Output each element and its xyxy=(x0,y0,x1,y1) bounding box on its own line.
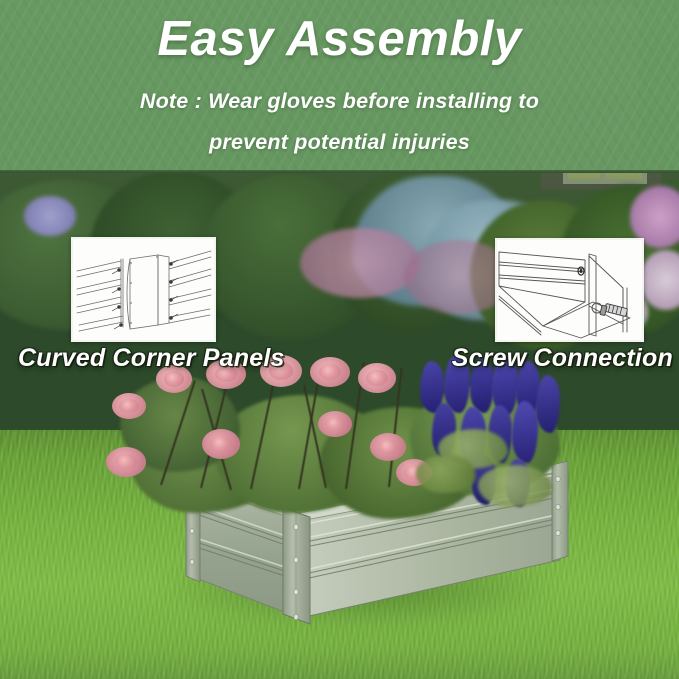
caption-curved-corner-panels: Curved Corner Panels xyxy=(18,344,285,373)
caption-screw-connection: Screw Connection xyxy=(452,344,673,373)
rose-bloom xyxy=(106,447,146,477)
plant-mass xyxy=(120,355,560,525)
corner-panel-linework xyxy=(73,239,214,340)
salvia-spike xyxy=(536,375,560,433)
foliage-clump xyxy=(478,465,552,507)
product-marketing-image: Curved Corner Panels Screw Connection Ea… xyxy=(0,0,679,679)
screw-connection-linework xyxy=(497,240,642,340)
salvia-spike xyxy=(512,401,538,463)
rose-bloom xyxy=(370,433,406,461)
rose-bloom xyxy=(310,357,350,387)
note-line-1: Note : Wear gloves before installing to xyxy=(0,89,679,114)
screw-hole xyxy=(580,269,583,273)
screw-marker xyxy=(170,260,178,319)
rose-bloom xyxy=(358,363,396,393)
note-line-2: prevent potential injuries xyxy=(0,130,679,155)
screw-hole xyxy=(130,256,158,324)
curved-corner-panels-diagram xyxy=(71,237,216,342)
rose-bloom xyxy=(112,393,146,419)
screw-connection-diagram xyxy=(495,238,644,342)
foliage-clump xyxy=(416,455,476,493)
rose-bloom xyxy=(202,429,240,459)
header-bottom-edge xyxy=(0,170,679,173)
screw xyxy=(600,303,628,316)
header-banner: Easy Assembly Note : Wear gloves before … xyxy=(0,0,679,173)
page-title: Easy Assembly xyxy=(0,11,679,67)
rose-bloom xyxy=(318,411,352,437)
